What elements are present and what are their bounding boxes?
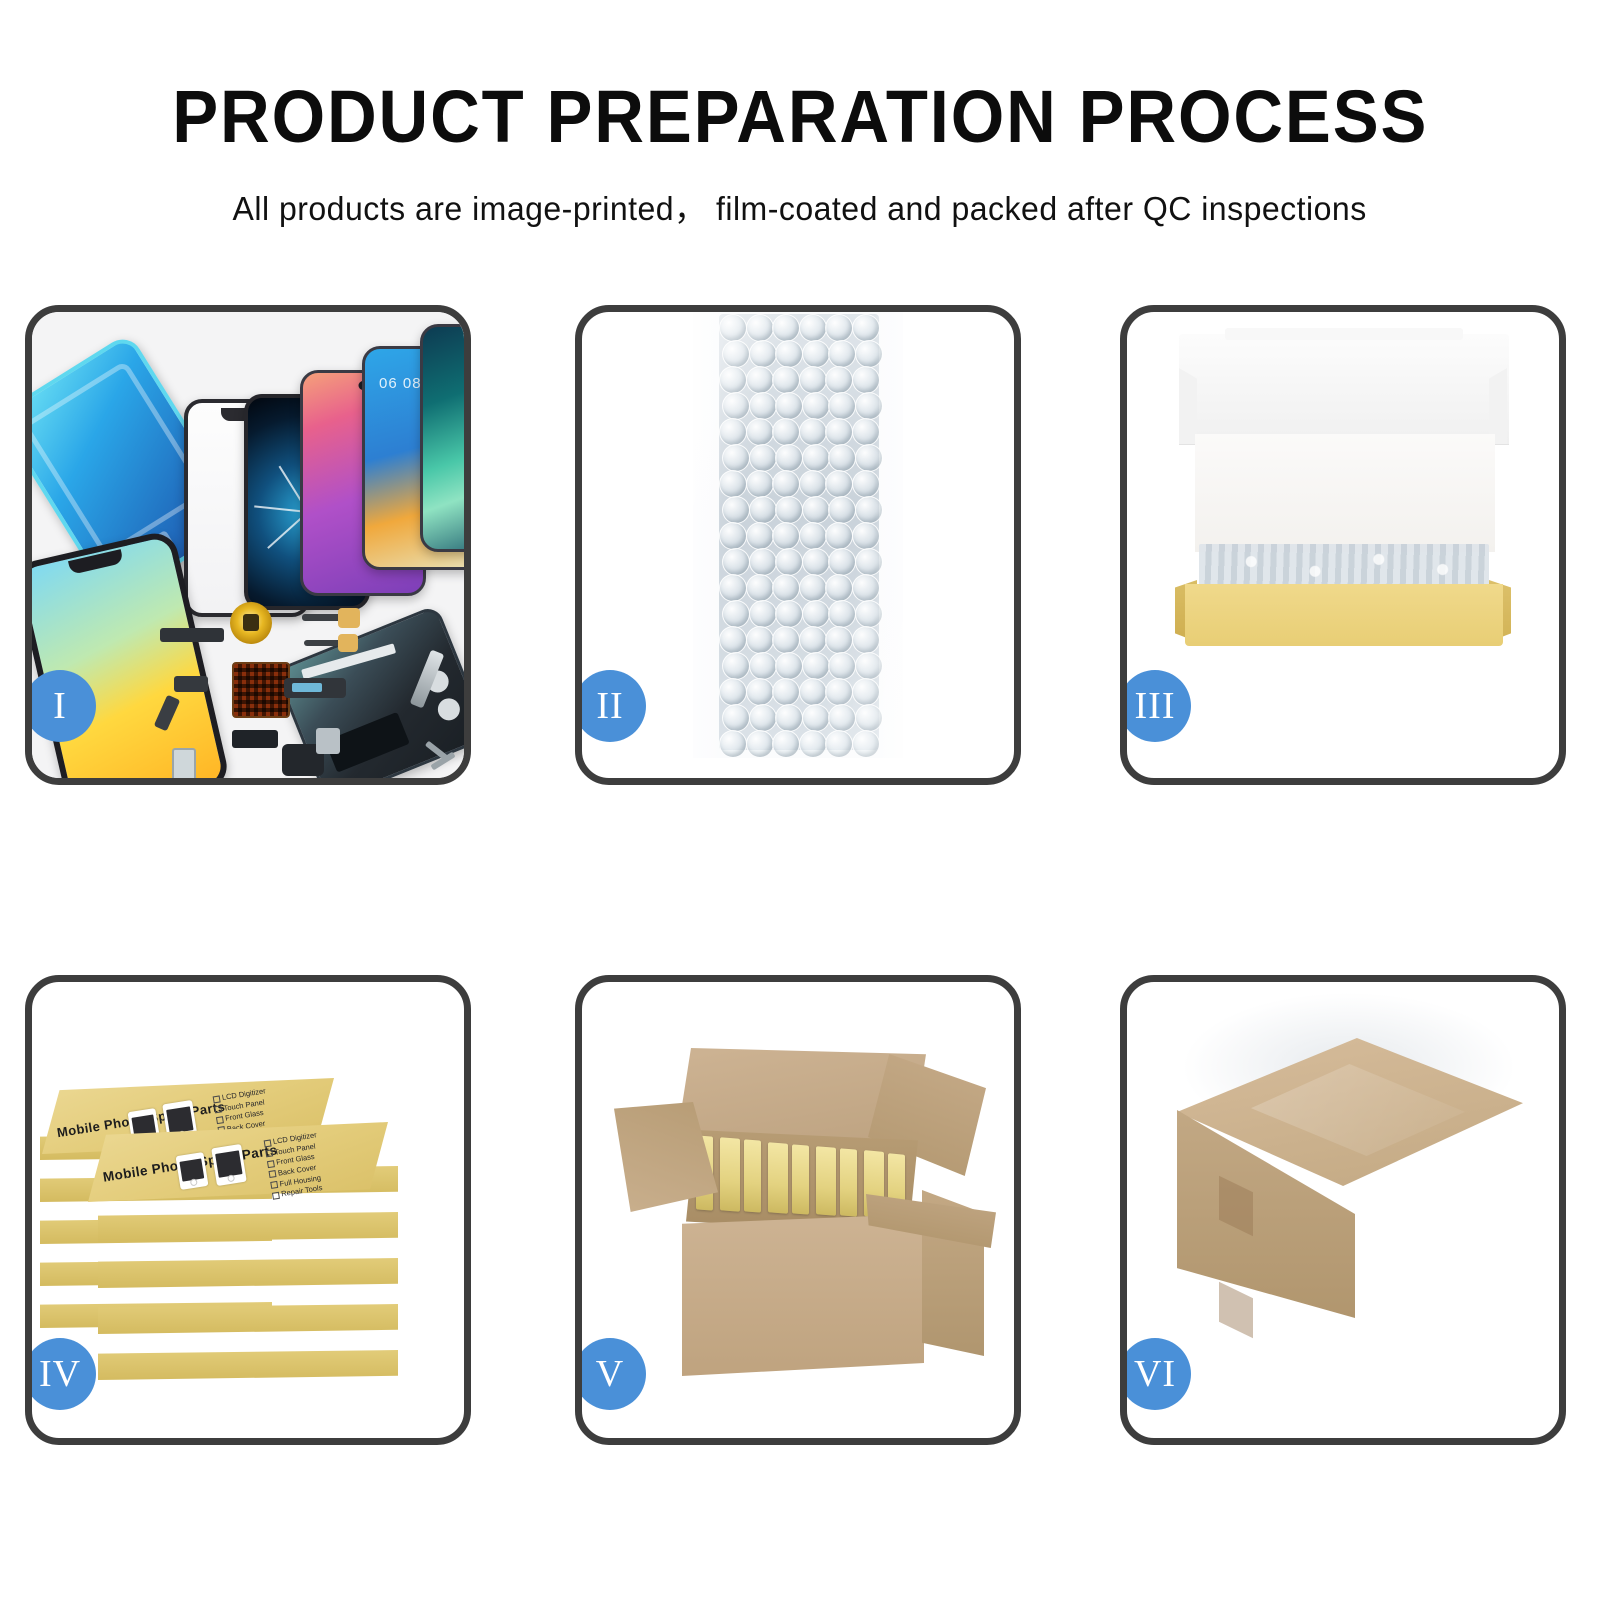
flex-cable-b-icon <box>304 634 358 654</box>
step-badge-5: V <box>575 1338 646 1410</box>
ic-chip-icon <box>232 662 290 718</box>
phone-clock-label: 06 08 <box>379 375 422 392</box>
sealed-carton-icon <box>1155 1038 1543 1368</box>
process-steps-grid: 06 08 I <box>0 0 1600 1600</box>
step-1-illustration: 06 08 <box>32 312 464 778</box>
box-front-icon <box>1185 584 1503 646</box>
sim-tray-icon <box>172 748 196 778</box>
carton-tape-bottom-icon <box>1219 1282 1253 1339</box>
step-2-illustration <box>582 312 1014 778</box>
step-panel-5[interactable]: V <box>575 975 1021 1445</box>
box-interior-icon <box>1195 434 1495 552</box>
flex-cable-a-icon <box>302 608 360 630</box>
gold-box-edge <box>98 1304 398 1334</box>
gold-box-edge <box>98 1350 398 1380</box>
phone-display-teal-icon <box>420 324 464 552</box>
button-flex-icon <box>174 676 208 692</box>
gold-box-edge <box>98 1212 398 1242</box>
vibration-coil-icon <box>230 602 272 644</box>
gold-box-in-carton <box>768 1142 788 1214</box>
step-panel-2[interactable]: II <box>575 305 1021 785</box>
step-badge-3: III <box>1120 670 1191 742</box>
step-badge-1: I <box>25 670 96 742</box>
camera-module-icon <box>232 730 278 748</box>
gold-box-edge <box>98 1258 398 1288</box>
phone-thumbnail <box>176 1152 209 1190</box>
box-lid-flap-right-icon <box>1489 368 1507 444</box>
step-4-illustration: Mobile Phone Spare PartsLCD DigitizerTou… <box>32 982 464 1438</box>
gold-box-in-carton <box>840 1148 857 1216</box>
step-panel-6[interactable]: VI <box>1120 975 1566 1445</box>
step-5-illustration <box>582 982 1014 1438</box>
step-badge-2: II <box>575 670 646 742</box>
earpiece-speaker-icon <box>160 628 224 642</box>
phone-thumbnail <box>211 1144 247 1186</box>
gold-box-in-carton <box>816 1146 836 1216</box>
gold-box-in-carton <box>792 1144 809 1215</box>
gold-box-stack-icon: Mobile Phone Spare PartsLCD DigitizerTou… <box>40 1016 464 1402</box>
step-3-illustration <box>1127 312 1559 778</box>
open-carton-icon <box>624 1048 980 1390</box>
step-badge-6: VI <box>1120 1338 1191 1410</box>
taptic-motor-icon <box>316 728 340 754</box>
step-panel-1[interactable]: 06 08 I <box>25 305 471 785</box>
gold-box-in-carton <box>744 1140 761 1213</box>
step-6-illustration <box>1127 982 1559 1438</box>
step-panel-4[interactable]: Mobile Phone Spare PartsLCD DigitizerTou… <box>25 975 471 1445</box>
step-badge-4: IV <box>25 1338 96 1410</box>
gold-box: Mobile Phone Spare PartsLCD DigitizerTou… <box>88 1122 388 1202</box>
box-lid-icon <box>1179 334 1509 444</box>
carton-body-front-icon <box>682 1214 924 1376</box>
gold-box-checklist: LCD DigitizerTouch PanelFront GlassBack … <box>263 1130 326 1201</box>
step-panel-3[interactable]: III <box>1120 305 1566 785</box>
bubble-wrap-icon <box>693 312 903 758</box>
bubble-wrapped-product-icon <box>1199 544 1489 588</box>
flex-cable-c-icon <box>284 678 346 698</box>
gold-box-in-carton <box>720 1137 740 1211</box>
